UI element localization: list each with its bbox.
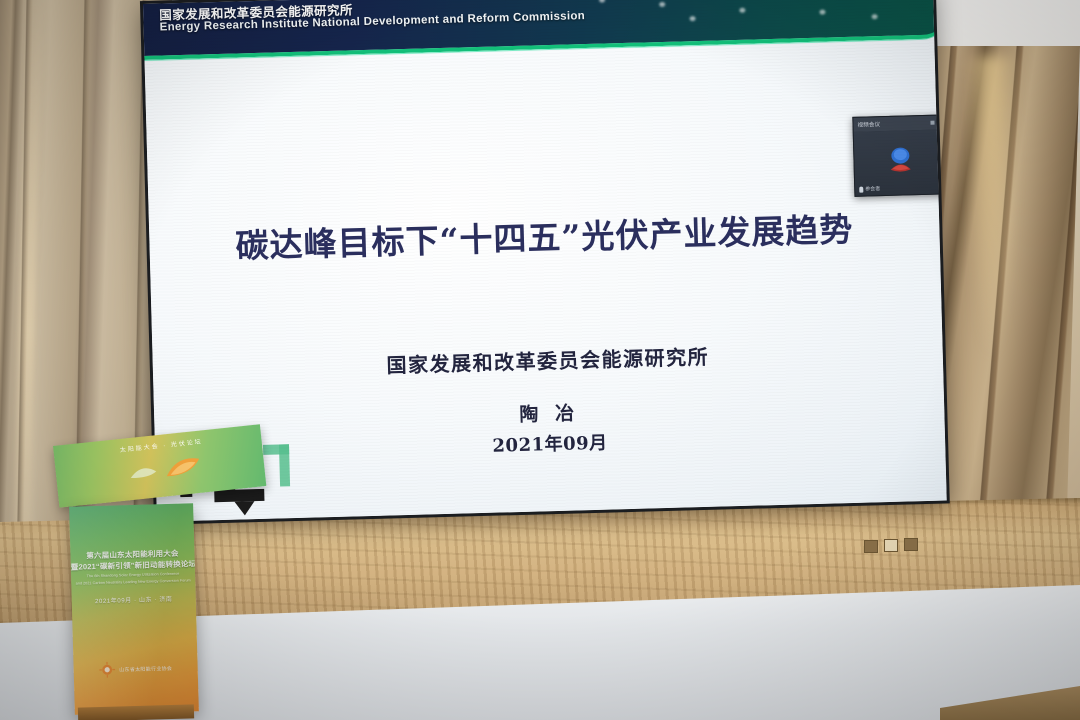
podium-line-4: and 2021 Carbon Neutrality Leading New E… — [71, 578, 195, 585]
microphone-icon — [859, 186, 863, 192]
video-panel-body: 参会者 — [854, 129, 947, 195]
wall-socket — [904, 538, 918, 551]
podium-logo-group: 山东省太阳能行业协会 — [99, 660, 172, 678]
video-conference-panel[interactable]: 视频会议 参会者 — [852, 114, 946, 197]
video-participant-label-group: 参会者 — [859, 185, 880, 193]
podium-line-1: 第六届山东太阳能利用大会 — [70, 547, 194, 561]
podium-line-2: 暨2021“碳新引领”新旧动能转换论坛 — [71, 558, 195, 572]
podium-logo-text: 山东省太阳能行业协会 — [119, 664, 172, 672]
sun-logo-icon — [99, 662, 115, 678]
podium-line-3: The 6th Shandong Solar Energy Utilizatio… — [71, 571, 195, 578]
podium-line-5: 2021年09月 · 山东 · 济南 — [72, 593, 196, 605]
conference-hall-scene: 国家发展和改革委员会能源研究所 Energy Research Institut… — [0, 0, 1080, 720]
video-participant-label: 参会者 — [865, 185, 880, 192]
wall-accent-light — [964, 56, 1018, 356]
video-panel-title: 视频会议 — [857, 119, 927, 129]
minimize-icon[interactable] — [930, 121, 934, 125]
podium-base — [78, 704, 194, 720]
projection-screen: 国家发展和改革委员会能源研究所 Energy Research Institut… — [143, 0, 947, 522]
wall-socket — [884, 539, 898, 552]
user-avatar-icon — [885, 146, 916, 175]
podium-top-emblem-icon — [124, 448, 213, 487]
wall-socket — [864, 540, 878, 553]
podium-front-panel: 第六届山东太阳能利用大会 暨2021“碳新引领”新旧动能转换论坛 The 6th… — [69, 503, 199, 714]
